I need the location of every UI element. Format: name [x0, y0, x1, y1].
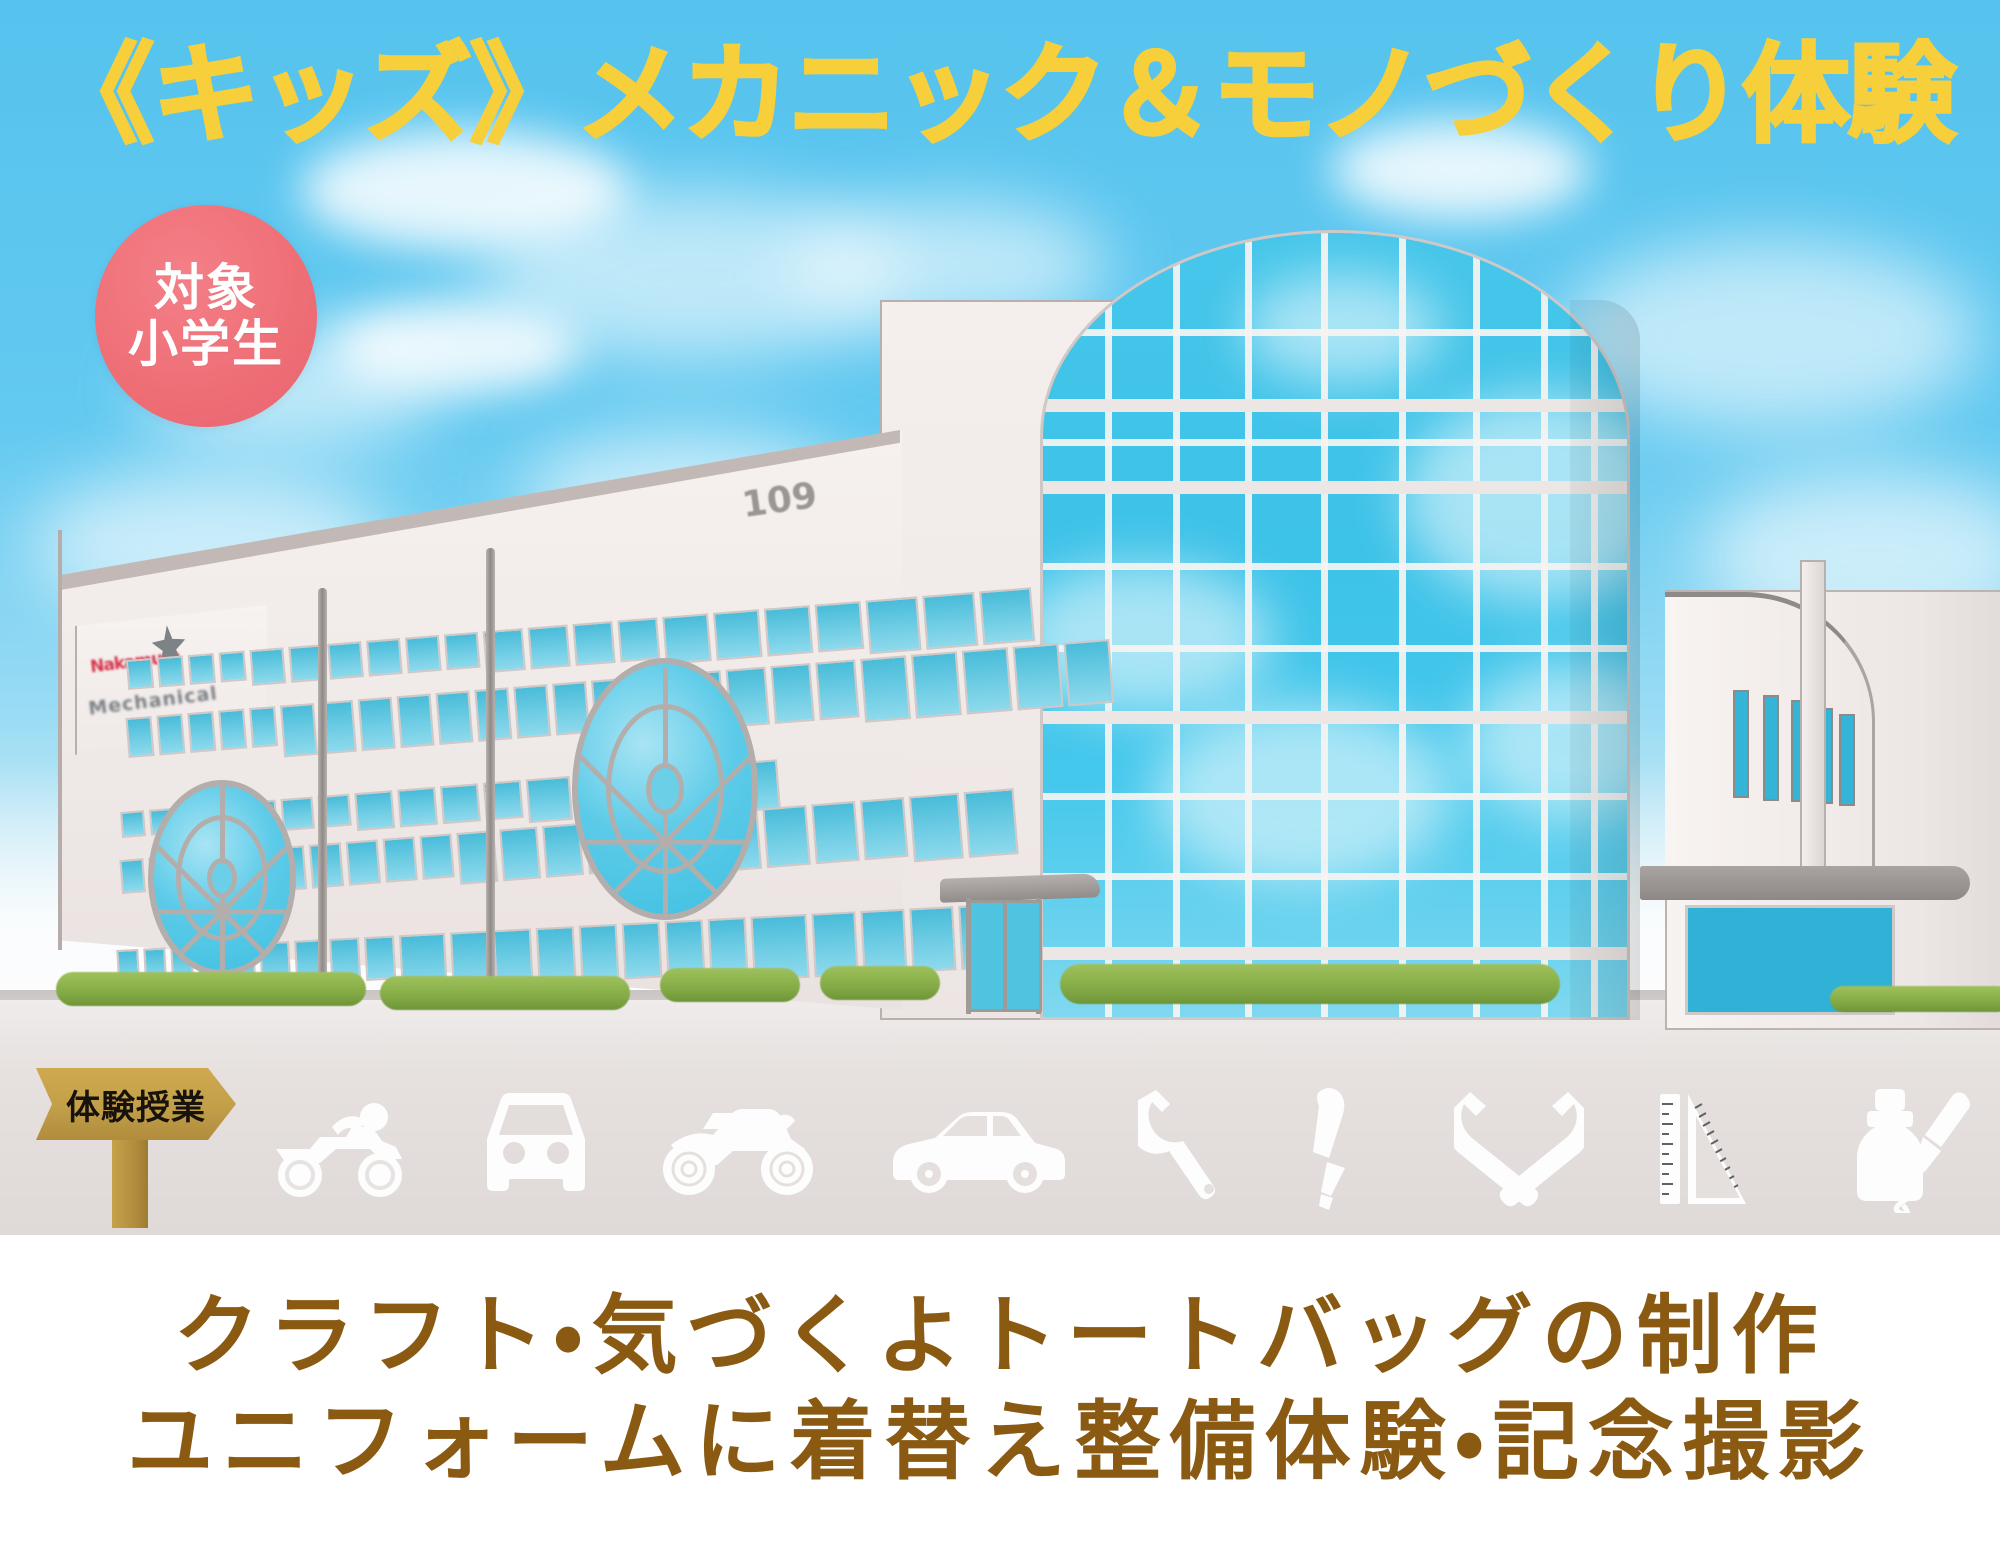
sportbike-icon: [661, 1093, 816, 1203]
signpost-label: 体験授業: [66, 1080, 206, 1129]
banner-line-2: ユニフォームに着替え整備体験・記念撮影: [127, 1393, 1873, 1493]
hedge: [56, 972, 366, 1006]
hedge: [1060, 964, 1560, 1004]
flag-pole: [486, 548, 495, 1000]
glue-bottle-and-marker-icon: [1845, 1083, 1990, 1213]
wrench-icon: [1138, 1086, 1233, 1211]
annex-slit-window: [1733, 690, 1749, 798]
motorcycle-rider-icon: [270, 1093, 410, 1203]
badge-line-1: 対象: [154, 260, 258, 316]
rulers-icon: [1654, 1086, 1774, 1211]
hedge: [660, 968, 800, 1002]
signpost: 体験授業: [36, 1068, 246, 1228]
side-entrance-door[interactable]: [968, 900, 1042, 1012]
signpost-board: 体験授業: [36, 1068, 236, 1140]
badge-line-2: 小学生: [128, 316, 284, 372]
screwdriver-icon: [1303, 1086, 1383, 1211]
banner-line-1: クラフト・気づくよトートバッグの制作: [173, 1287, 1826, 1387]
annex-vertical-fin: [1800, 560, 1826, 890]
circular-spoke-window: [572, 658, 758, 920]
signpost-leg: [112, 1134, 148, 1228]
page-title: 《キッズ》メカニック＆モノづくり体験: [0, 42, 2000, 150]
sedan-side-icon: [887, 1098, 1067, 1198]
annex-entrance-canopy: [1640, 866, 1970, 900]
building-left-corner-edge: [58, 530, 62, 950]
hedge: [1830, 986, 2000, 1012]
car-front-icon: [481, 1091, 591, 1206]
illustration-scene: Nakamura Mechanical 109: [0, 0, 2000, 1235]
flag-pole: [318, 588, 327, 1000]
annex-slit-window: [1839, 714, 1855, 806]
tower-glass-reflections: [1043, 233, 1627, 1017]
glass-curtain-tower: [1040, 230, 1630, 1020]
icon-strip: [270, 1078, 1990, 1218]
poster-root: Nakamura Mechanical 109: [0, 0, 2000, 1545]
target-audience-badge: 対象 小学生: [95, 205, 317, 427]
crossed-wrenches-icon: [1454, 1086, 1584, 1211]
annex-slit-window: [1763, 695, 1779, 801]
circular-spoke-window: [148, 780, 296, 976]
hedge: [820, 966, 940, 1000]
bottom-banner: クラフト・気づくよトートバッグの制作 ユニフォームに着替え整備体験・記念撮影: [0, 1235, 2000, 1545]
tower-shadow-side: [1570, 300, 1640, 1020]
hedge: [380, 976, 630, 1010]
